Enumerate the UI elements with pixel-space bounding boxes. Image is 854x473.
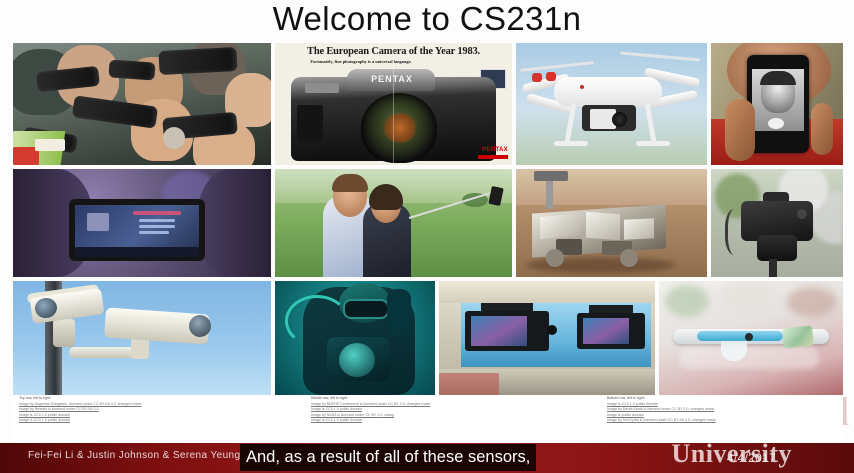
attribution-line[interactable]: Image is CC0 1.0 public domain <box>19 418 141 424</box>
photo-mars-rover <box>516 169 707 277</box>
photo-google-glass <box>659 281 843 395</box>
photo-selfie-stick-couple <box>275 169 512 277</box>
footer-authors: Fei-Fei Li & Justin Johnson & Serena Yeu… <box>28 450 240 461</box>
page-title: Welcome to CS231n <box>0 0 854 40</box>
photo-grid: The European Camera of the Year 1983. Fo… <box>13 43 843 395</box>
attribution-line[interactable]: Image by Ted Eytan is licensed under CC … <box>607 418 716 424</box>
photo-press-photographers <box>13 43 271 165</box>
photo-camera-drone <box>516 43 707 165</box>
photo-pentax-magazine-ad: The European Camera of the Year 1983. Fo… <box>275 43 512 165</box>
footer-date: 4/4/2017 <box>727 451 776 465</box>
image-attributions: Top row, left to right: Image by Augusta… <box>13 396 843 442</box>
ad-brand-label: PENTAX <box>355 74 429 84</box>
photo-car-dashcams <box>439 281 655 395</box>
presentation-slide: Welcome to CS231n <box>0 0 854 473</box>
photo-smartphone-selfie <box>711 43 843 165</box>
attribution-line[interactable]: Image is CC0 1.0 public domain <box>311 418 430 424</box>
photo-hands-holding-phone <box>13 169 271 277</box>
photo-dslr-on-tripod <box>711 169 843 277</box>
attribution-line[interactable]: Image by Derek Keats is licensed under C… <box>607 407 716 413</box>
video-caption-overlay: And, as a result of all of these sensors… <box>240 444 536 471</box>
attribution-column-top-row: Top row, left to right: Image by Augusta… <box>19 396 141 424</box>
attribution-column-middle-row: Middle row, left to right: Image by BGPH… <box>311 396 430 424</box>
photo-underwater-diver <box>275 281 435 395</box>
photo-surveillance-cameras <box>13 281 271 395</box>
attribution-column-bottom-row: Bottom row, left to right: Image is CC0 … <box>607 396 716 424</box>
ad-logo: PENTAX <box>482 147 508 153</box>
